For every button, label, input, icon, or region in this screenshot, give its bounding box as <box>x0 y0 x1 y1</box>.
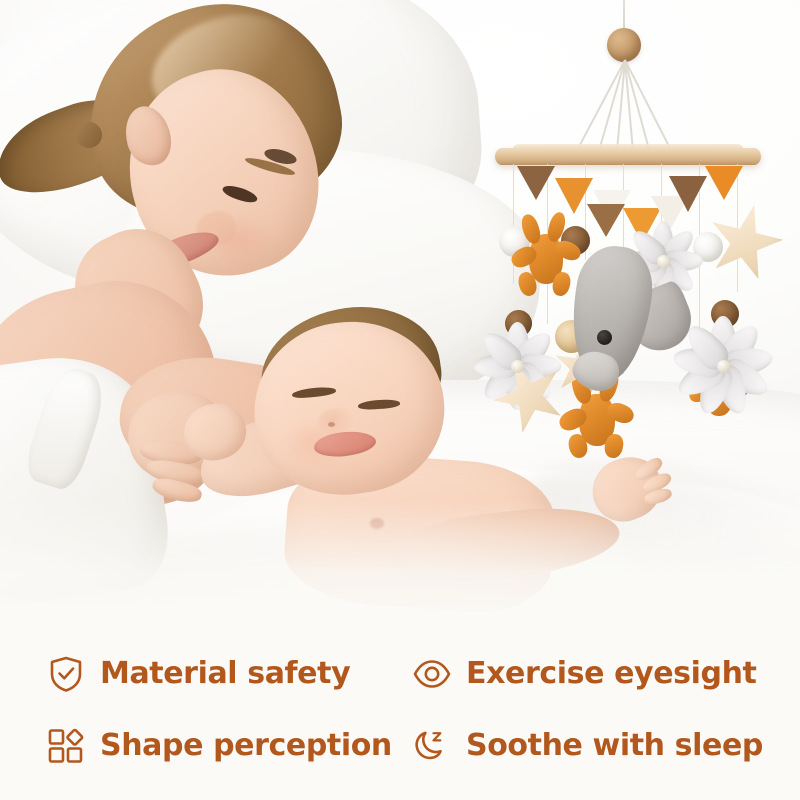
baby-nostril <box>328 422 335 427</box>
feature-label: Exercise eyesight <box>466 659 756 689</box>
feature-item-soothe-with-sleep: Soothe with sleep <box>412 726 776 766</box>
feature-label: Soothe with sleep <box>466 731 763 761</box>
mobile-wooden-hoop <box>495 148 761 165</box>
feature-item-shape-perception: Shape perception <box>46 726 412 766</box>
feature-grid: Material safety Exercise eyesight <box>46 638 776 782</box>
feature-item-material-safety: Material safety <box>46 654 412 694</box>
shell-pearl-center <box>657 255 670 268</box>
eye-icon <box>412 654 452 694</box>
feature-panel: Material safety Exercise eyesight <box>0 620 800 800</box>
felt-whale-gray <box>567 246 695 398</box>
feature-label: Material safety <box>100 659 350 689</box>
shield-check-icon <box>46 654 86 694</box>
crib-mobile <box>455 0 800 470</box>
moon-sleep-icon <box>412 726 452 766</box>
mobile-top-felt-ball <box>607 28 641 62</box>
baby-navel <box>370 518 384 529</box>
feature-label: Shape perception <box>100 731 392 761</box>
shapes-icon <box>46 726 86 766</box>
feature-item-exercise-eyesight: Exercise eyesight <box>412 654 776 694</box>
shell-pearl-center <box>717 360 730 373</box>
shell-pearl-center <box>511 360 524 373</box>
hero-photo <box>0 0 800 620</box>
product-feature-card: Material safety Exercise eyesight <box>0 0 800 800</box>
whale-eye <box>597 330 612 345</box>
